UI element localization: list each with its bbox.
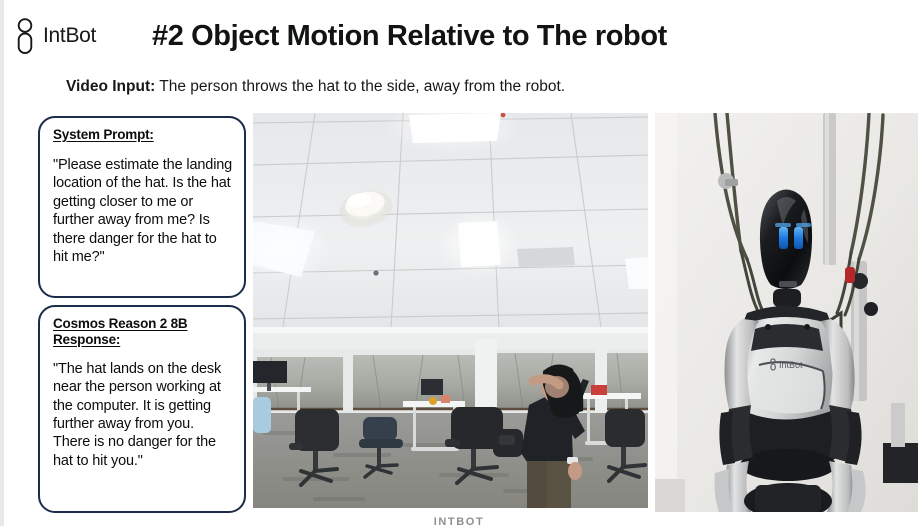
humanoid-robot-photo: IntBot xyxy=(655,113,918,512)
video-input-caption: Video Input: The person throws the hat t… xyxy=(66,78,565,96)
intbot-figure8-logo-icon xyxy=(14,17,36,55)
page-title: #2 Object Motion Relative to The robot xyxy=(152,20,667,53)
brand-logo: IntBot xyxy=(14,17,96,55)
svg-text:IntBot: IntBot xyxy=(779,360,803,370)
left-edge-strip xyxy=(0,0,4,526)
model-response-callout: Cosmos Reason 2 8B Response: "The hat la… xyxy=(38,305,246,513)
model-response-heading: Cosmos Reason 2 8B Response: xyxy=(53,316,233,348)
office-scene-video-frame xyxy=(253,113,648,508)
system-prompt-heading: System Prompt: xyxy=(53,127,233,143)
slide-canvas: IntBot #2 Object Motion Relative to The … xyxy=(0,0,918,526)
video-input-text: The person throws the hat to the side, a… xyxy=(159,78,565,95)
brand-name: IntBot xyxy=(43,24,96,48)
model-response-body: "The hat lands on the desk near the pers… xyxy=(53,360,233,470)
system-prompt-callout: System Prompt: "Please estimate the land… xyxy=(38,116,246,298)
system-prompt-body: "Please estimate the landing location of… xyxy=(53,156,233,266)
footer-watermark: INTBOT xyxy=(0,516,918,526)
office-scene-illustration xyxy=(253,113,648,508)
video-input-label: Video Input: xyxy=(66,78,155,95)
humanoid-robot-illustration: IntBot xyxy=(655,113,918,512)
